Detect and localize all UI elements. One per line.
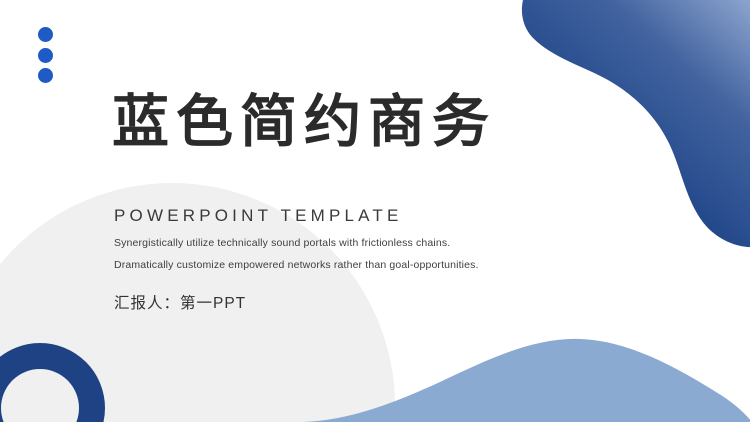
slide-subtitle: POWERPOINT TEMPLATE [114, 206, 403, 226]
presentation-slide: 蓝色简约商务 POWERPOINT TEMPLATE Synergistical… [0, 0, 750, 422]
slide-presenter: 汇报人：第一PPT [114, 291, 246, 313]
slide-paragraph: Synergistically utilize technically soun… [114, 233, 489, 276]
slide-title: 蓝色简约商务 [112, 93, 496, 153]
slide-content: 蓝色简约商务 POWERPOINT TEMPLATE Synergistical… [0, 0, 750, 422]
